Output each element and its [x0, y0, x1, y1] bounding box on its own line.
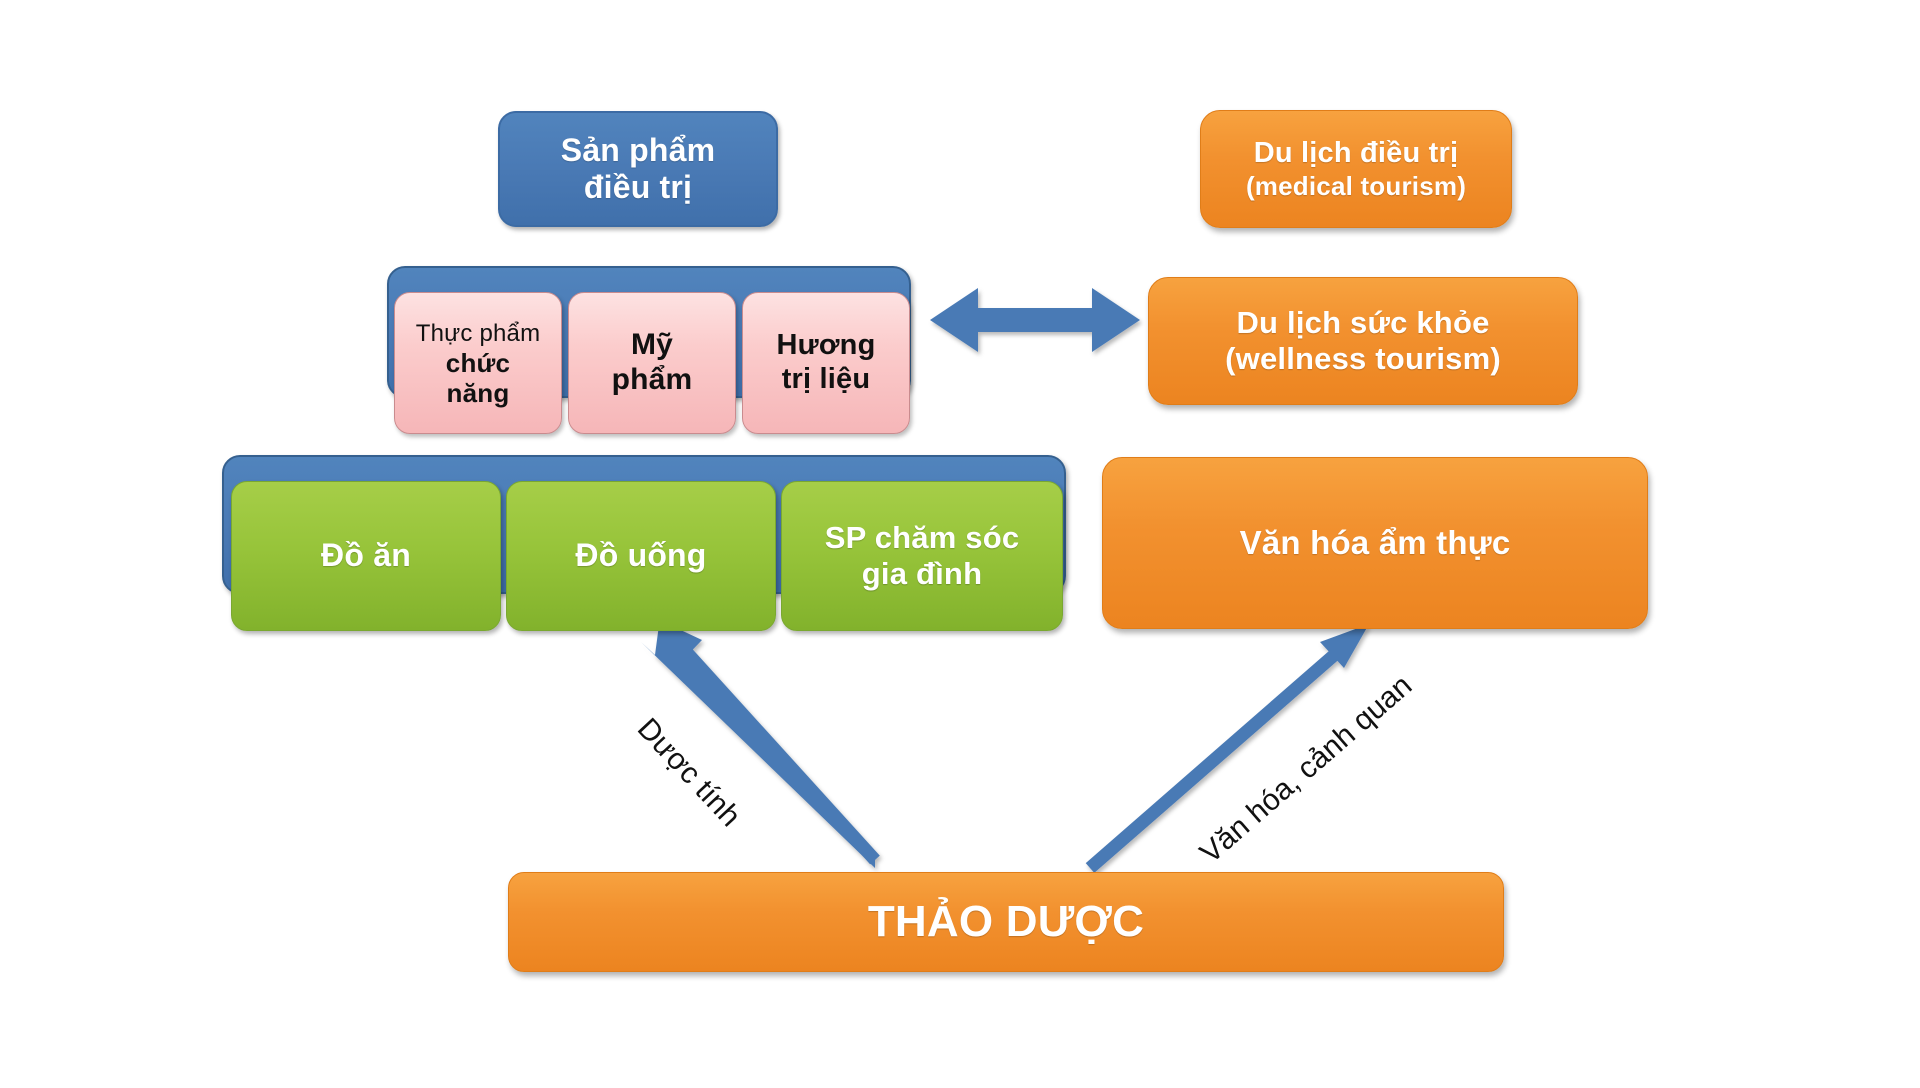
node-functional-food-line3: năng	[403, 378, 553, 408]
node-family-care-line2: gia đình	[790, 556, 1054, 592]
node-culinary-culture[interactable]: Văn hóa ẩm thực	[1102, 457, 1648, 629]
node-medical-tourism[interactable]: Du lịch điều trị (medical tourism)	[1200, 110, 1512, 228]
node-wellness-tourism-line2: (wellness tourism)	[1157, 341, 1569, 377]
node-functional-food-line1: Thực phẩm	[416, 320, 541, 347]
node-drink[interactable]: Đồ uống	[506, 481, 776, 631]
connector-label-right: Văn hóa, cảnh quan	[1194, 669, 1419, 871]
node-cosmetics-line1: Mỹ	[631, 328, 673, 361]
node-aromatherapy-line2: trị liệu	[751, 363, 901, 397]
node-herbs-root[interactable]: THẢO DƯỢC	[508, 872, 1504, 972]
node-herbs-root-label: THẢO DƯỢC	[868, 897, 1144, 946]
node-cosmetics[interactable]: Mỹ phẩm	[568, 292, 736, 434]
node-aromatherapy[interactable]: Hương trị liệu	[742, 292, 910, 434]
node-drink-line1: Đồ uống	[575, 537, 706, 573]
node-food[interactable]: Đồ ăn	[231, 481, 501, 631]
node-medical-tourism-line1: Du lịch điều trị	[1254, 137, 1459, 169]
node-food-line1: Đồ ăn	[321, 537, 411, 573]
node-family-care[interactable]: SP chăm sóc gia đình	[781, 481, 1063, 631]
node-family-care-line1: SP chăm sóc	[825, 520, 1020, 555]
node-wellness-tourism-line1: Du lịch sức khỏe	[1236, 305, 1489, 340]
node-functional-food[interactable]: Thực phẩm chức năng	[394, 292, 562, 434]
node-cosmetics-line2: phẩm	[577, 363, 727, 398]
node-functional-food-line2: chức	[403, 348, 553, 378]
node-wellness-tourism[interactable]: Du lịch sức khỏe (wellness tourism)	[1148, 277, 1578, 405]
node-medical-tourism-line2: (medical tourism)	[1209, 171, 1503, 201]
double-headed-arrow-icon	[930, 288, 1140, 352]
node-treatment-products-line1: Sản phẩm	[561, 132, 716, 168]
diagram-canvas: Sản phẩm điều trị Thực phẩm chức năng Mỹ…	[0, 0, 1920, 1088]
node-aromatherapy-line1: Hương	[777, 329, 876, 361]
connector-label-left: Dược tính	[630, 712, 747, 834]
node-treatment-products[interactable]: Sản phẩm điều trị	[498, 111, 778, 227]
node-treatment-products-line2: điều trị	[508, 169, 768, 206]
node-culinary-culture-line1: Văn hóa ẩm thực	[1240, 524, 1511, 561]
